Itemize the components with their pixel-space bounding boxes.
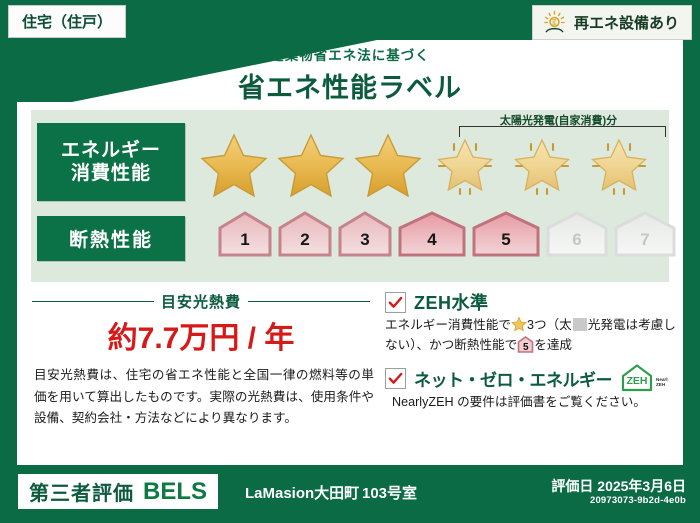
estimated-utility-cost-title: 目安光熱費 (161, 291, 241, 312)
zeh-desc-part-b: 3つ（太 (527, 318, 572, 332)
inline-star-icon (511, 316, 527, 332)
insulation-grade-number: 1 (216, 230, 274, 250)
zeh-standard-title: ZEH水準 (414, 289, 489, 315)
energy-star-rating (196, 128, 656, 198)
heading-rule-right (248, 301, 370, 303)
insulation-performance-label: 断熱性能 (37, 216, 185, 261)
insulation-grade-badge: 7 (612, 210, 678, 258)
bels-logo-text: BELS (143, 478, 207, 506)
net-zero-energy-description: NearlyZEH の要件は評価書をご覧ください。 (392, 392, 682, 412)
star-solar-icon (427, 128, 503, 198)
checkmark-icon (385, 292, 406, 313)
star-icon (350, 128, 426, 198)
net-zero-energy-title: ネット・ゼロ・エネルギー (414, 366, 612, 391)
room-number: 103号室 (362, 482, 417, 503)
insulation-grade-badge: 4 (396, 210, 468, 258)
bels-energy-label: 住宅（住戸） 再エネ設備あり 建築物省エネ法に基づく (0, 0, 700, 523)
svg-text:ZEH: ZEH (627, 375, 648, 387)
insulation-grade-badge: 3 (336, 210, 394, 258)
third-party-evaluation-box: 第三者評価 BELS (18, 474, 218, 509)
energy-performance-label-line1: エネルギー (61, 139, 161, 162)
renewable-equipment-badge: 再エネ設備あり (532, 5, 692, 40)
third-party-evaluation-label: 第三者評価 (29, 477, 134, 506)
insulation-grade-badge: 1 (216, 210, 274, 258)
net-zero-energy-row: ネット・ゼロ・エネルギー ZEH Nearly ZEH (385, 363, 668, 393)
star-solar-icon (581, 128, 657, 198)
insulation-grade-badge: 2 (276, 210, 334, 258)
insulation-grade-row: 1 2 3 4 (216, 210, 678, 258)
insulation-grade-number: 6 (544, 230, 610, 250)
house-type-tag: 住宅（住戸） (8, 5, 126, 38)
performance-panel: エネルギー 消費性能 太陽光発電(自家消費)分 (31, 110, 669, 282)
zeh-standard-row: ZEH水準 (385, 289, 489, 315)
estimated-utility-cost-heading: 目安光熱費 (32, 291, 370, 312)
property-name: LaMasion大田町 (245, 482, 359, 503)
sun-icon (542, 10, 567, 35)
energy-performance-label-line2: 消費性能 (71, 162, 151, 185)
inline-grade-badge-icon: 5 (517, 336, 534, 353)
star-solar-icon (504, 128, 580, 198)
zeh-house-logo-icon: ZEH Nearly ZEH (620, 363, 668, 393)
insulation-performance-label-text: 断熱性能 (69, 225, 153, 252)
label-footer: 第三者評価 BELS LaMasion大田町 103号室 評価日 2025年3月… (0, 466, 700, 523)
renewable-equipment-label: 再エネ設備あり (574, 12, 679, 33)
heading-rule-left (32, 301, 154, 303)
zeh-desc-part-d: を達成 (534, 338, 572, 352)
insulation-grade-number: 4 (396, 230, 468, 250)
zeh-desc-part-a: エネルギー消費性能で (385, 318, 511, 332)
star-icon (273, 128, 349, 198)
redacted-character (573, 318, 587, 331)
star-icon (196, 128, 272, 198)
svg-text:ZEH: ZEH (656, 382, 666, 387)
estimated-utility-cost-amount: 約7.7万円 / 年 (32, 313, 370, 357)
insulation-grade-badge: 5 (470, 210, 542, 258)
insulation-grade-number: 5 (470, 230, 542, 250)
house-type-label: 住宅（住戸） (22, 11, 112, 32)
insulation-grade-number: 3 (336, 230, 394, 250)
energy-performance-label: エネルギー 消費性能 (37, 123, 185, 201)
estimated-utility-cost-description: 目安光熱費は、住宅の省エネ性能と全国一律の燃料等の単価を用いて算出したものです。… (34, 365, 374, 430)
zeh-standard-description: エネルギー消費性能で3つ（太光発電は考慮しない）、かつ断熱性能で5を達成 (385, 315, 677, 356)
insulation-grade-number: 2 (276, 230, 334, 250)
inline-grade-number: 5 (517, 340, 534, 356)
evaluation-date: 評価日 2025年3月6日 (551, 476, 686, 496)
evaluation-id: 20973073-9b2d-4e0b (590, 495, 686, 506)
checkmark-icon (385, 368, 406, 389)
insulation-grade-badge: 6 (544, 210, 610, 258)
insulation-grade-number: 7 (612, 230, 678, 250)
